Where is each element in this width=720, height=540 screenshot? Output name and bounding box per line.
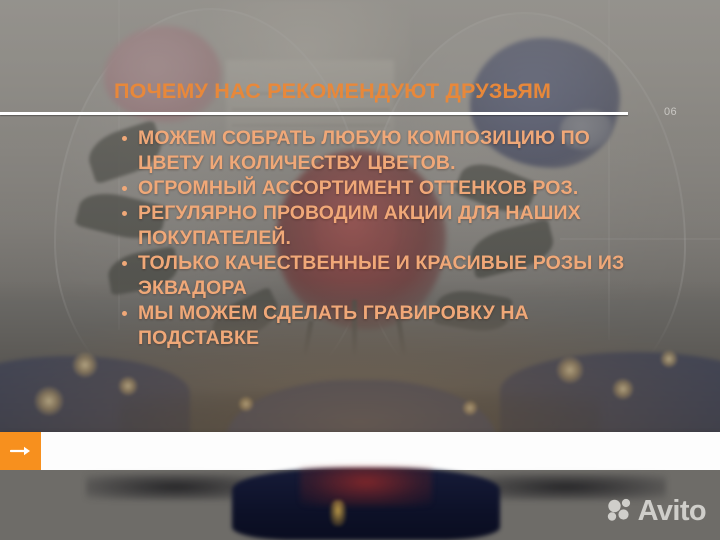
next-slide-button[interactable] [0,432,41,470]
presentation-slide: ПОЧЕМУ НАС РЕКОМЕНДУЮТ ДРУЗЬЯМ 06 МОЖЕМ … [0,0,720,540]
gold-accent-bottom [330,500,346,526]
benefits-list: МОЖЕМ СОБРАТЬ ЛЮБУЮ КОМПОЗИЦИЮ ПО ЦВЕТУ … [118,126,632,351]
list-item: РЕГУЛЯРНО ПРОВОДИМ АКЦИИ ДЛЯ НАШИХ ПОКУП… [118,201,632,251]
arrow-right-icon [10,445,32,457]
list-item: ТОЛЬКО КАЧЕСТВЕННЫЕ И КРАСИВЫЕ РОЗЫ ИЗ Э… [118,251,632,301]
page-number: 06 [664,106,677,118]
title-divider [0,112,628,115]
list-item: ОГРОМНЫЙ АССОРТИМЕНТ ОТТЕНКОВ РОЗ. [118,176,632,201]
watermark: Avito [607,497,706,526]
avito-dots-logo-icon [607,497,633,526]
slide-content: ПОЧЕМУ НАС РЕКОМЕНДУЮТ ДРУЗЬЯМ 06 МОЖЕМ … [0,0,720,540]
page-title: ПОЧЕМУ НАС РЕКОМЕНДУЮТ ДРУЗЬЯМ [114,79,551,104]
list-item: МЫ МОЖЕМ СДЕЛАТЬ ГРАВИРОВКУ НА ПОДСТАВКЕ [118,301,632,351]
bottom-bar [0,432,720,470]
watermark-text: Avito [638,497,706,526]
red-rose-glow-bottom [300,466,432,506]
list-item: МОЖЕМ СОБРАТЬ ЛЮБУЮ КОМПОЗИЦИЮ ПО ЦВЕТУ … [118,126,632,176]
